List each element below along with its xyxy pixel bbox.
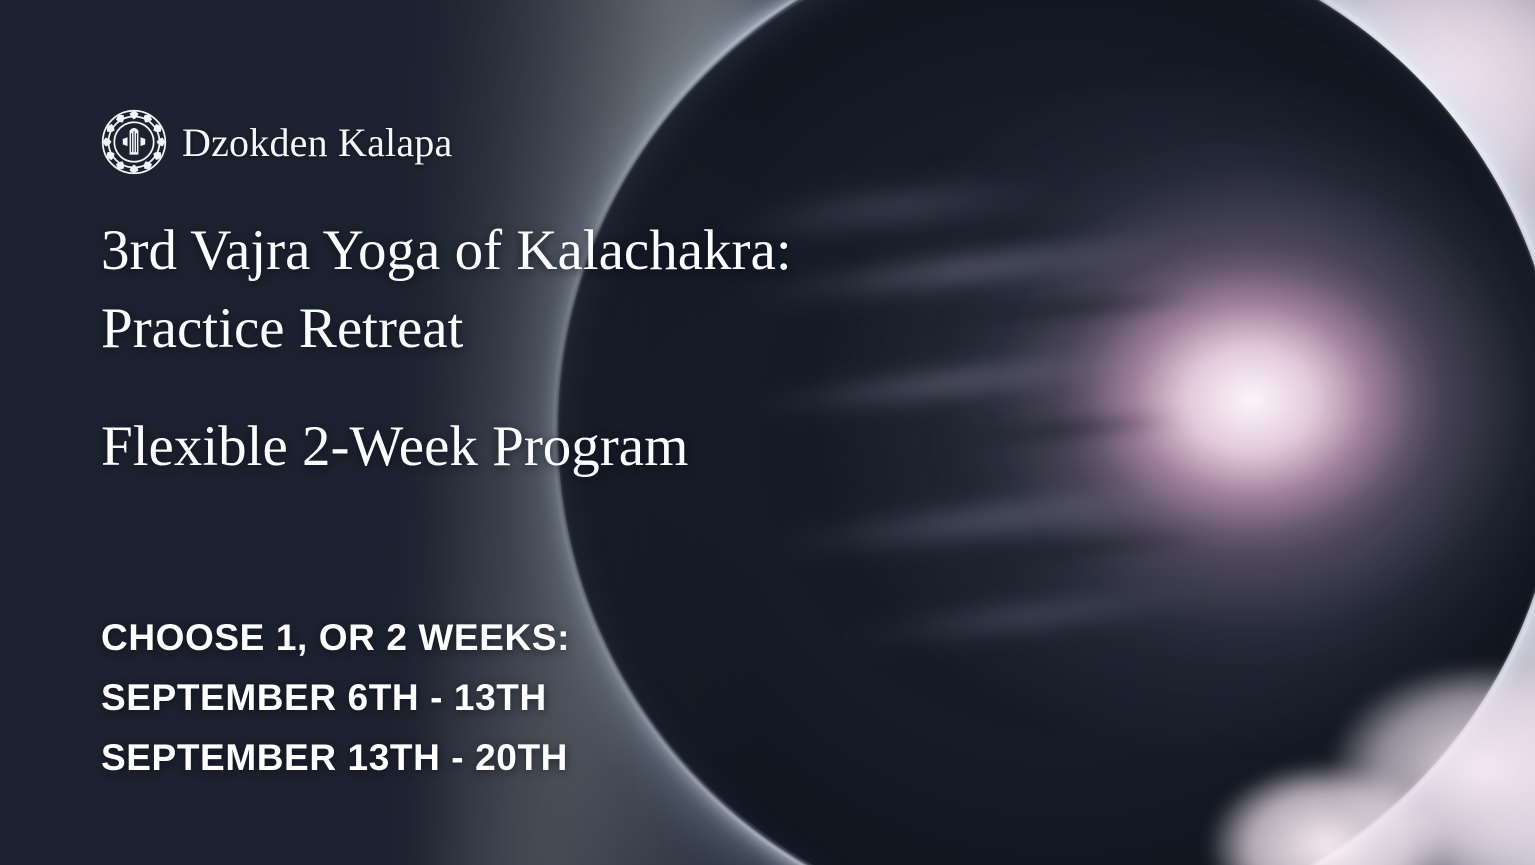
date-option-week-1: SEPTEMBER 6TH - 13TH [101,668,570,728]
brand-wordmark: Dzokden Kalapa [182,119,452,166]
brand-lockup: Dzokden Kalapa [100,108,452,176]
poster-content: Dzokden Kalapa 3rd Vajra Yoga of Kalacha… [0,0,1535,865]
date-option-week-2: SEPTEMBER 13TH - 20TH [101,728,570,788]
subtitle: Flexible 2-Week Program [101,408,688,486]
event-poster: Dzokden Kalapa 3rd Vajra Yoga of Kalacha… [0,0,1535,865]
page-title: 3rd Vajra Yoga of Kalachakra: Practice R… [101,212,921,367]
date-choose-prompt: CHOOSE 1, OR 2 WEEKS: [101,608,570,668]
date-options-block: CHOOSE 1, OR 2 WEEKS: SEPTEMBER 6TH - 13… [101,608,570,788]
headline-line-1: 3rd Vajra Yoga of Kalachakra: [101,212,921,290]
headline-line-2: Practice Retreat [101,290,921,368]
dharma-wheel-stupa-emblem-icon [100,108,168,176]
